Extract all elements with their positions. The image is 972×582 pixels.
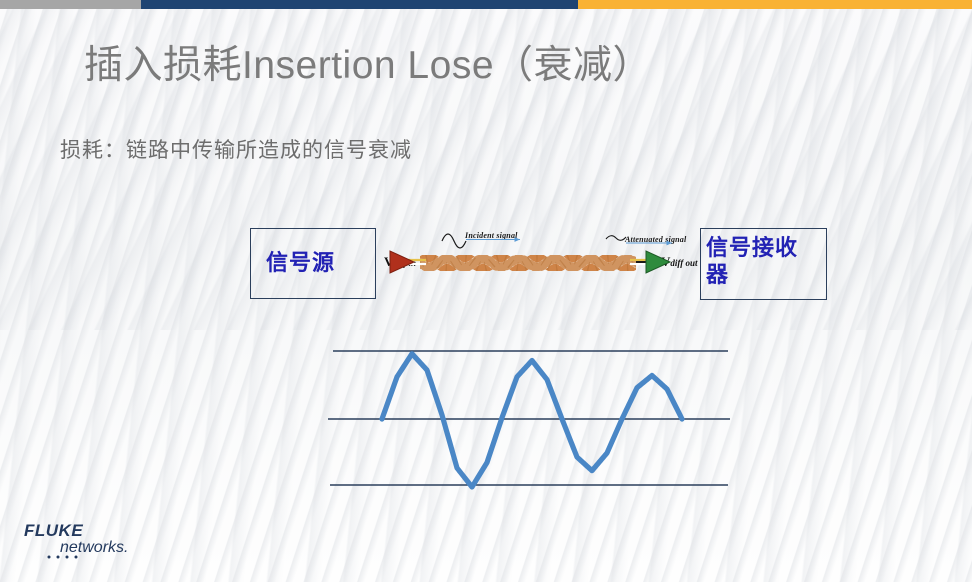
chart-reference-lines (328, 351, 730, 485)
top-color-bar (0, 0, 972, 9)
logo-networks-wordmark: networks. (60, 539, 128, 556)
page-title-cn-suffix: （衰减） (494, 44, 652, 87)
fluke-networks-logo: FLUKE networks. (22, 516, 162, 562)
damped-sine-curve (382, 354, 682, 487)
page-title-cn-prefix: 插入损耗 (84, 44, 242, 87)
signal-source-label: 信号源 (266, 250, 335, 277)
topbar-navy-segment (141, 0, 578, 9)
signal-receiver-label: 信号接收器 (706, 235, 818, 289)
attenuated-wave-glyph (606, 236, 626, 241)
page-title-latin: Insertion Lose (242, 44, 494, 87)
slide-canvas: 插入损耗Insertion Lose（衰减） 损耗：链路中传输所造成的信号衰减 … (0, 0, 972, 582)
twisted-pair-cable-diagram (378, 222, 704, 292)
subtitle-text: 损耗：链路中传输所造成的信号衰减 (60, 134, 412, 164)
topbar-amber-segment (578, 0, 972, 9)
topbar-gray-segment (0, 0, 141, 9)
receiver-connector-triangle-icon (646, 251, 670, 273)
twisted-pair-wires (420, 259, 636, 267)
logo-fluke-wordmark: FLUKE (24, 521, 83, 540)
source-connector-triangle-icon (390, 251, 414, 273)
page-title: 插入损耗Insertion Lose（衰减） (84, 34, 652, 90)
attenuation-waveform-chart (320, 340, 740, 500)
incident-wave-glyph (442, 234, 466, 248)
